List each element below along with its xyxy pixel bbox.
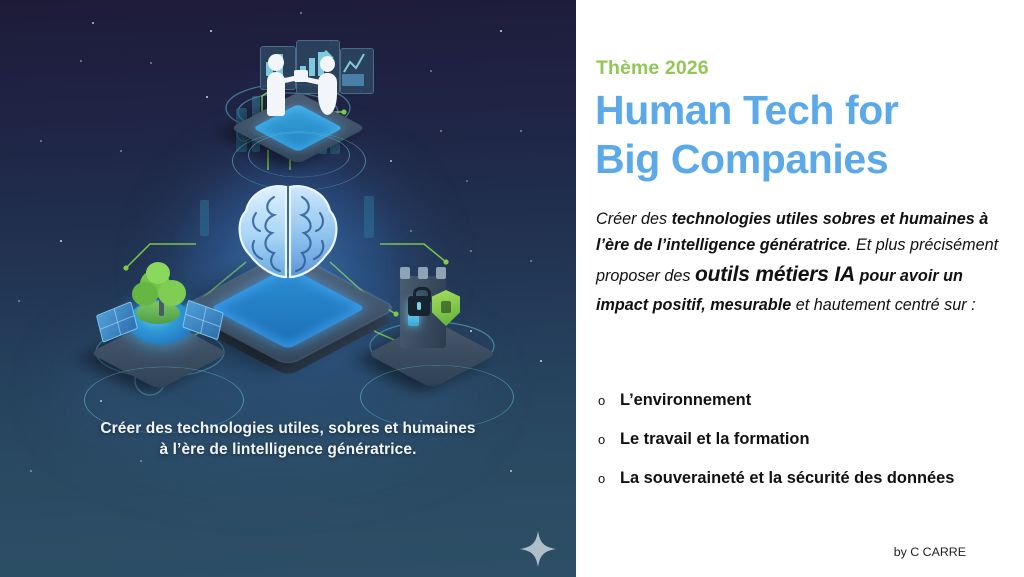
- star-speck: [510, 470, 512, 472]
- caption-line-2: à l’ère de lintelligence génératrice.: [0, 439, 576, 460]
- padlock-icon: [408, 296, 430, 316]
- para-seg-1: Créer des: [596, 210, 672, 228]
- star-speck: [300, 12, 302, 14]
- list-item[interactable]: oLe travail et la formation: [598, 430, 1018, 449]
- star-speck: [150, 62, 152, 64]
- tree-foliage-2: [132, 282, 158, 306]
- star-speck: [540, 360, 542, 362]
- person-left: [268, 54, 284, 71]
- star-speck: [500, 30, 502, 32]
- handshake-document: [294, 70, 308, 82]
- star-speck: [410, 230, 412, 232]
- star-speck: [18, 300, 20, 302]
- star-speck: [206, 96, 208, 98]
- bullet-marker-icon: o: [598, 471, 620, 486]
- title-line-1: Human Tech for: [595, 86, 1015, 135]
- person-right: [320, 56, 335, 72]
- illustration-caption: Créer des technologies utiles, sobres et…: [0, 418, 576, 461]
- title-line-2: Big Companies: [595, 135, 1015, 184]
- byline: by C CARRE: [894, 545, 966, 559]
- description-paragraph: Créer des technologies utiles sobres et …: [596, 206, 1016, 319]
- crenellation-1: [400, 267, 410, 279]
- presentation-slide: Créer des technologies utiles, sobres et…: [0, 0, 1024, 577]
- star-speck: [390, 160, 392, 162]
- page-title: Human Tech for Big Companies: [595, 86, 1015, 184]
- para-seg-3: . Et plus précisément: [847, 236, 998, 254]
- crenellation-2: [418, 267, 428, 279]
- star-speck: [530, 260, 532, 262]
- star-speck: [430, 70, 432, 72]
- para-seg-4: proposer des: [596, 267, 695, 285]
- caption-line-1: Créer des technologies utiles, sobres et…: [0, 418, 576, 439]
- brain-icon: [230, 181, 346, 285]
- sparkle-icon: [518, 529, 558, 569]
- star-speck: [120, 150, 122, 152]
- star-speck: [30, 470, 32, 472]
- star-speck: [92, 22, 94, 24]
- environment-node: [88, 272, 238, 402]
- tree-foliage-4: [146, 262, 170, 284]
- crenellation-3: [436, 267, 446, 279]
- content-panel: Thème 2026 Human Tech for Big Companies …: [576, 0, 1024, 577]
- star-speck: [60, 240, 62, 242]
- star-speck: [470, 250, 472, 252]
- para-seg-7: et hautement centré sur :: [791, 296, 975, 314]
- list-item[interactable]: oLa souveraineté et la sécurité des donn…: [598, 469, 1018, 488]
- bullet-label: Le travail et la formation: [620, 430, 809, 449]
- people-collaboration-node: [228, 42, 368, 172]
- bullet-label: L’environnement: [620, 391, 751, 410]
- star-speck: [466, 180, 468, 182]
- security-node: [368, 268, 508, 398]
- bullet-list: oL’environnementoLe travail et la format…: [598, 391, 1018, 508]
- star-speck: [210, 30, 212, 32]
- kicker-label: Thème 2026: [596, 57, 709, 80]
- tree-foliage-3: [158, 280, 186, 306]
- para-seg-5: outils métiers IA: [695, 263, 855, 286]
- bullet-marker-icon: o: [598, 393, 620, 408]
- illustration-panel: Créer des technologies utiles, sobres et…: [0, 0, 576, 577]
- bullet-marker-icon: o: [598, 432, 620, 447]
- star-speck: [40, 140, 42, 142]
- star-speck: [520, 130, 522, 132]
- star-speck: [80, 60, 82, 62]
- bullet-label: La souveraineté et la sécurité des donné…: [620, 469, 954, 488]
- list-item[interactable]: oL’environnement: [598, 391, 1018, 410]
- star-speck: [440, 130, 442, 132]
